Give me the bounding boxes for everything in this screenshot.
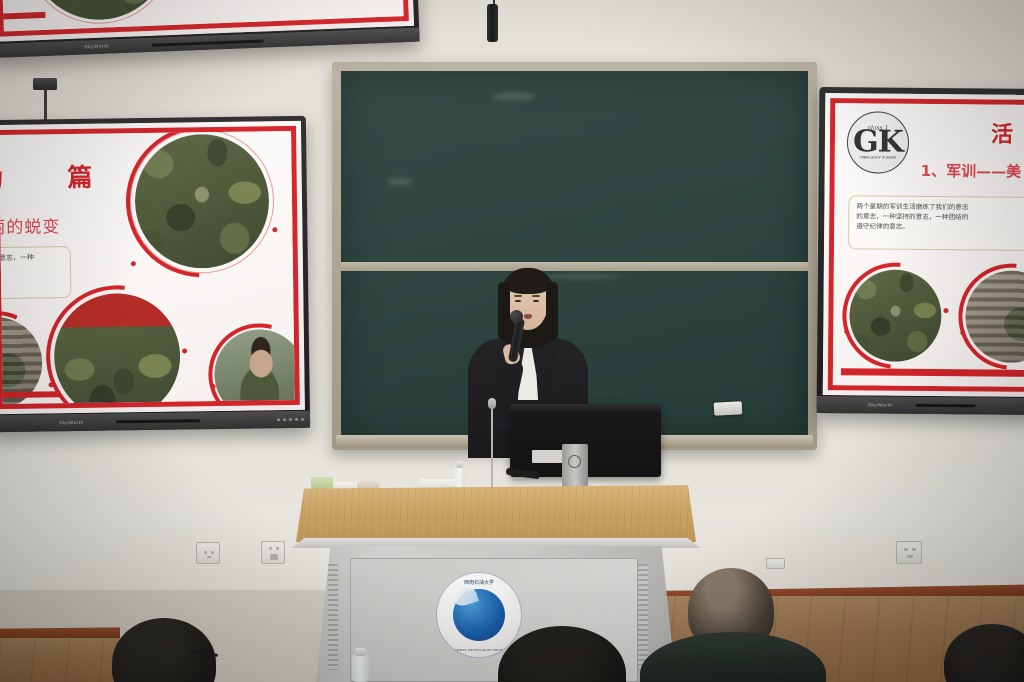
- lecture-hall-scene: SkyWorth 动 篇 美丽的蜕变 ，一种吃苦 的意志，一种: [0, 0, 1024, 682]
- slide-bottom-bar: [841, 368, 1024, 377]
- left-slide-textbox: ，一种吃苦 的意志，一种: [0, 246, 71, 300]
- slide-photo-arc: [833, 241, 970, 387]
- slide-accent-dot: [943, 308, 948, 313]
- slide-photo-arc: [937, 242, 1024, 387]
- slide-bottom-bar: [1, 12, 45, 20]
- wall-camera: [33, 78, 57, 90]
- right-display-screen: class 1 GK 中国石油大学 军训纪实 活 1、军训——美 两个星期的军训…: [823, 93, 1024, 397]
- lectern-wood-panel: [296, 484, 696, 542]
- floor-left: [0, 638, 120, 682]
- left-display-brand: SkyWorth: [59, 420, 84, 426]
- left-display[interactable]: 动 篇 美丽的蜕变 ，一种吃苦 的意志，一种: [0, 116, 310, 432]
- slide-accent-dot: [960, 330, 965, 335]
- right-slide: class 1 GK 中国石油大学 军训纪实 活 1、军训——美 两个星期的军训…: [823, 93, 1024, 397]
- hair-bangs: [505, 270, 551, 294]
- mouth: [524, 314, 532, 319]
- left-display-screen: 动 篇 美丽的蜕变 ，一种吃苦 的意志，一种: [0, 121, 305, 414]
- audience-member-left: [112, 618, 216, 682]
- lectern-vent-left: [328, 564, 338, 670]
- right-display-brand: SkyWorth: [868, 402, 893, 408]
- chalk-smudge: [387, 178, 413, 185]
- eyebrow-right: [532, 295, 540, 297]
- right-display-ir-slot: [916, 404, 976, 408]
- left-slide-subtitle: 美丽的蜕变: [0, 212, 60, 238]
- right-slide-textbox: 两个星期的军训生活磨练了我们的意志 的意志，一种坚持的意志，一种团结的 遵守纪律…: [848, 195, 1024, 251]
- chalk-smudge: [492, 92, 536, 101]
- wall-sensor: [766, 558, 785, 569]
- camera-stalk: [44, 86, 47, 120]
- right-display-chin: SkyWorth: [817, 396, 1024, 415]
- monitor-sticker: [532, 450, 566, 463]
- slide-accent-dot: [131, 261, 136, 266]
- power-outlet[interactable]: [196, 542, 220, 564]
- left-display-ir-slot: [116, 419, 200, 423]
- gooseneck-mic-head: [488, 398, 496, 409]
- left-slide: 动 篇 美丽的蜕变 ，一种吃苦 的意志，一种: [0, 121, 305, 414]
- right-slide-title: 活: [991, 116, 1013, 148]
- right-slide-inner: class 1 GK 中国石油大学 军训纪实 活 1、军训——美 两个星期的军训…: [833, 103, 1024, 387]
- chalk-eraser: [714, 401, 743, 415]
- slide-bottom-bar: [0, 391, 61, 398]
- slide-accent-dot: [844, 329, 849, 334]
- network-outlet[interactable]: [261, 541, 285, 564]
- gooseneck-mic-stem: [491, 408, 493, 488]
- hair-side-left: [498, 282, 510, 340]
- hand-sanitizer-cap: [456, 461, 463, 468]
- slide-accent-dot: [272, 227, 277, 232]
- left-slide-inner: 动 篇 美丽的蜕变 ，一种吃苦 的意志，一种: [0, 131, 295, 404]
- slide-accent-dot: [182, 348, 187, 353]
- ceiling-microphone: [487, 4, 498, 42]
- power-outlet-right[interactable]: [896, 541, 922, 564]
- microphone-head: [510, 310, 523, 323]
- hair-side-right: [546, 282, 558, 340]
- stamp-bottom-text: 中国石油大学 军训纪实: [859, 156, 896, 160]
- left-slide-title: 动 篇: [0, 157, 121, 195]
- slide-accent-dot: [49, 382, 54, 387]
- right-slide-heading: 1、军训——美: [921, 160, 1022, 182]
- dell-logo: [568, 455, 581, 468]
- eyebrow-left: [514, 295, 522, 297]
- water-bottle-left: [352, 654, 369, 682]
- right-slide-body: 两个星期的军训生活磨练了我们的意志 的意志，一种坚持的意志，一种团结的 遵守纪律…: [856, 201, 1024, 233]
- stamp-main-text: GK: [853, 129, 903, 155]
- slide-accent-dot: [211, 384, 216, 389]
- emblem-inner-disc: [453, 589, 505, 641]
- emblem-swoosh: [451, 586, 479, 608]
- top-display-ir-slot: [152, 39, 264, 46]
- right-display[interactable]: class 1 GK 中国石油大学 军训纪实 活 1、军训——美 两个星期的军训…: [817, 87, 1024, 415]
- top-display-brand: SkyWorth: [84, 44, 109, 50]
- emblem-cn-text: 西南石油大学: [437, 579, 521, 586]
- water-bottle-left-cap: [355, 648, 366, 656]
- class-logo-stamp: class 1 GK 中国石油大学 军训纪实: [847, 111, 910, 174]
- left-slide-body: ，一种吃苦 的意志，一种: [0, 252, 63, 264]
- left-display-indicators: [277, 418, 304, 421]
- slide-photo-arc: [189, 305, 294, 405]
